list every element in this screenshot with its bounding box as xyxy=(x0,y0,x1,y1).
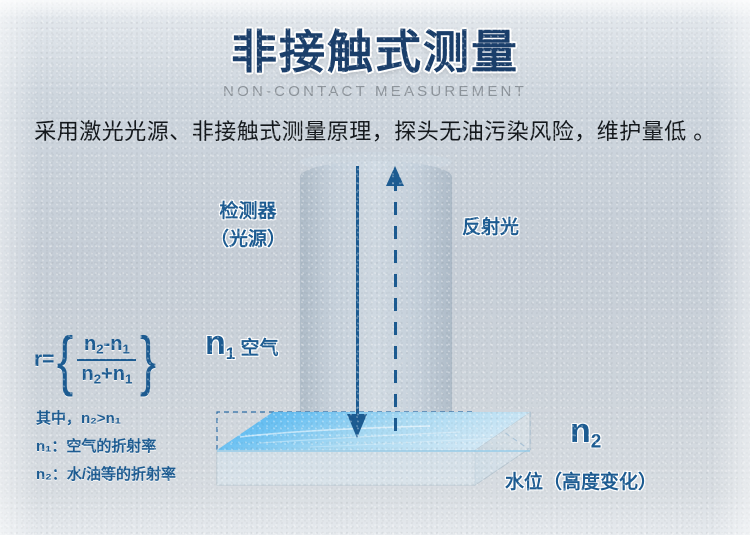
formula-brace-right: } xyxy=(140,327,157,393)
formula-legend: 其中，n₂>n₁ n₁：空气的折射率 n₂：水/油等的折射率 xyxy=(36,405,176,489)
reflected-light-label: 反射光 xyxy=(462,212,519,239)
formula-lhs: r= xyxy=(34,348,54,372)
infographic-canvas: 非接触式测量 NON-CONTACT MEASUREMENT 采用激光光源、非接… xyxy=(0,0,750,535)
detector-label: 检测器 （光源） xyxy=(210,198,286,254)
denominator-n1-sub: 1 xyxy=(125,372,132,387)
numerator-n1-sub: 1 xyxy=(122,342,129,357)
tank-bottom-face xyxy=(217,448,530,485)
denominator-n1: n xyxy=(113,363,125,385)
reflected-beam-arrowhead-icon xyxy=(386,166,404,186)
reflectance-formula: r= { n2-n1 n2+n1 } xyxy=(34,327,157,393)
formula-numerator: n2-n1 xyxy=(80,331,134,359)
legend-n1-definition: n₁：空气的折射率 xyxy=(36,433,176,461)
formula-fraction: n2-n1 n2+n1 xyxy=(74,331,139,388)
n1-symbol: n xyxy=(205,324,226,362)
numerator-n2-sub: 2 xyxy=(96,342,103,357)
lead-description: 采用激光光源、非接触式测量原理，探头无油污染风险，维护量低 。 xyxy=(0,114,750,146)
formula-brace-left: { xyxy=(57,327,74,393)
page-title: 非接触式测量 xyxy=(0,16,750,82)
n1-medium-label: 空气 xyxy=(241,338,279,359)
page-subtitle: NON-CONTACT MEASUREMENT xyxy=(0,83,750,100)
denominator-n2: n xyxy=(81,363,93,385)
n1-air-label: n1 空气 xyxy=(205,324,279,364)
n2-symbol: n xyxy=(570,412,591,450)
numerator-n1: n xyxy=(110,333,122,355)
denominator-n2-sub: 2 xyxy=(94,372,101,387)
n2-subscript: 2 xyxy=(591,431,602,452)
legend-condition: 其中，n₂>n₁ xyxy=(36,405,176,433)
incident-beam-line xyxy=(356,166,359,428)
reflected-beam-line xyxy=(394,178,397,434)
detector-label-line2: （光源） xyxy=(210,226,286,254)
legend-n2-definition: n₂：水/油等的折射率 xyxy=(36,461,176,489)
incident-beam-arrowhead-icon xyxy=(347,414,367,438)
numerator-n2: n xyxy=(84,333,96,355)
denominator-op: + xyxy=(101,363,113,385)
water-level-label: 水位（高度变化） xyxy=(505,467,657,494)
detector-label-line1: 检测器 xyxy=(210,198,286,226)
formula-denominator: n2+n1 xyxy=(77,361,136,389)
n1-subscript: 1 xyxy=(226,344,235,363)
n2-label: n2 xyxy=(570,412,601,453)
water-front-edge xyxy=(217,450,530,452)
